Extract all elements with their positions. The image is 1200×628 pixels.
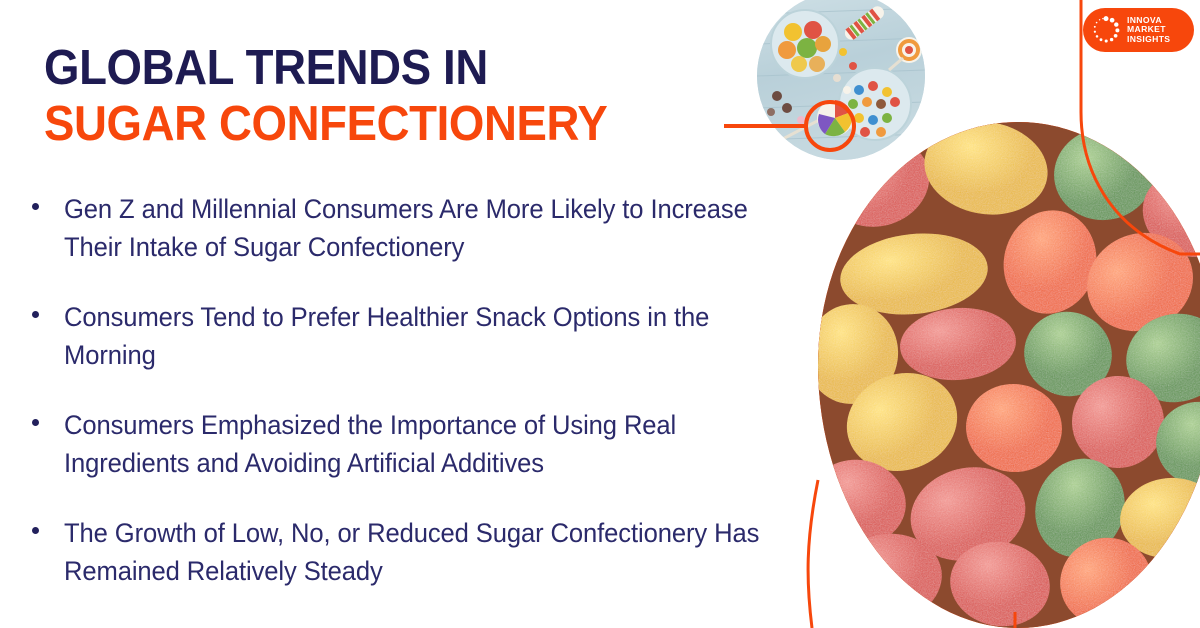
logo-wordmark: INNOVA MARKET INSIGHTS — [1127, 16, 1170, 45]
gummy-photo-art — [818, 122, 1200, 628]
title-line-1: GLOBAL TRENDS IN — [44, 40, 751, 96]
bullet-dot-icon — [32, 203, 39, 210]
list-item: Consumers Tend to Prefer Healthier Snack… — [24, 298, 814, 382]
trend-bullet-list: Gen Z and Millennial Consumers Are More … — [24, 190, 814, 622]
list-item: The Growth of Low, No, or Reduced Sugar … — [24, 514, 814, 598]
list-item: Gen Z and Millennial Consumers Are More … — [24, 190, 814, 274]
title-line-2: SUGAR CONFECTIONERY — [44, 96, 751, 152]
infographic-canvas: GLOBAL TRENDS IN SUGAR CONFECTIONERY Gen… — [0, 0, 1200, 628]
list-item-label: The Growth of Low, No, or Reduced Sugar … — [64, 514, 788, 590]
bullet-dot-icon — [32, 527, 39, 534]
list-item: Consumers Emphasized the Importance of U… — [24, 406, 814, 490]
bullet-dot-icon — [32, 311, 39, 318]
list-item-label: Consumers Tend to Prefer Healthier Snack… — [64, 298, 788, 374]
list-item-label: Consumers Emphasized the Importance of U… — [64, 406, 788, 482]
bullet-dot-icon — [32, 419, 39, 426]
page-title: GLOBAL TRENDS IN SUGAR CONFECTIONERY — [44, 40, 804, 152]
logo-line-3: INSIGHTS — [1127, 35, 1170, 45]
dot-ring-icon — [1091, 15, 1121, 45]
list-item-label: Gen Z and Millennial Consumers Are More … — [64, 190, 788, 266]
innova-market-insights-logo[interactable]: INNOVA MARKET INSIGHTS — [1083, 8, 1194, 52]
sour-gummy-candies-photo — [818, 122, 1200, 628]
